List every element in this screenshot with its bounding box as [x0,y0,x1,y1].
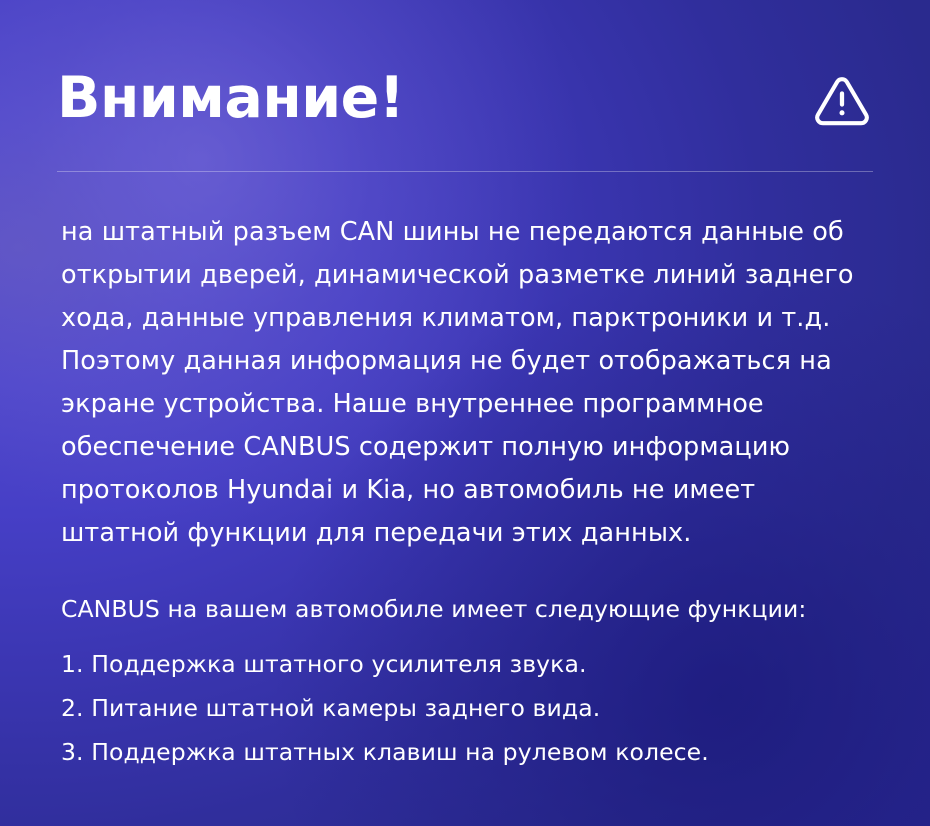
header-divider [57,171,873,172]
page-title: Внимание! [57,70,404,127]
list-item: 3. Поддержка штатных клавиш на рулевом к… [61,730,891,774]
warning-paragraph: на штатный разъем CAN шины не передаются… [61,211,879,555]
warning-triangle-icon [811,64,873,132]
functions-list: 1. Поддержка штатного усилителя звука. 2… [61,642,891,774]
header: Внимание! [57,52,873,144]
functions-intro: CANBUS на вашем автомобиле имеет следующ… [61,590,891,628]
functions-block: CANBUS на вашем автомобиле имеет следующ… [61,590,891,774]
body-text-block: на штатный разъем CAN шины не передаются… [61,211,879,555]
list-item: 1. Поддержка штатного усилителя звука. [61,642,891,686]
warning-slide: Внимание! на штатный разъем CAN шины не … [0,0,930,826]
list-item: 2. Питание штатной камеры заднего вида. [61,686,891,730]
